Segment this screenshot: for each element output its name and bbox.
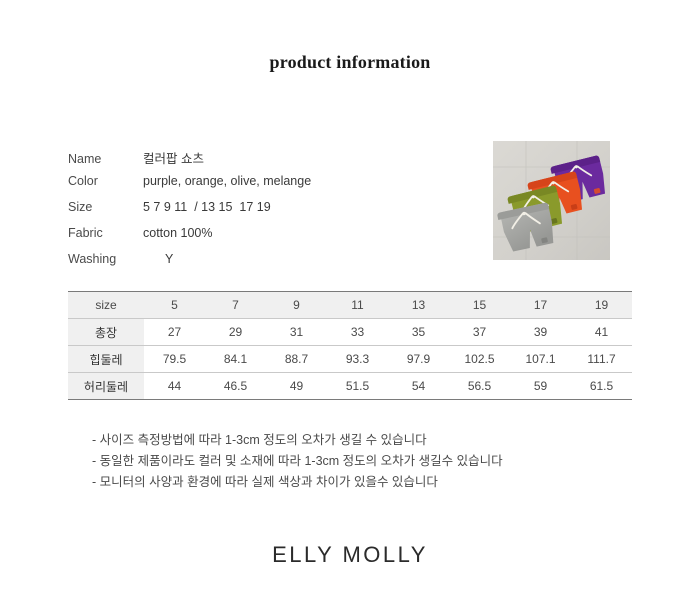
spec-label-color: Color: [68, 174, 143, 188]
size-table-cell: 31: [266, 319, 327, 346]
size-table-cell: 35: [388, 319, 449, 346]
notice-item: - 동일한 제품이라도 컬러 및 소재에 따라 1-3cm 정도의 오차가 생길…: [92, 451, 612, 472]
size-table-header-cell: size: [68, 292, 144, 319]
spec-value-name: 컬러팝 쇼츠: [143, 148, 204, 167]
size-table-cell: 27: [144, 319, 205, 346]
size-table-body: 총장 27 29 31 33 35 37 39 41 힙둘레 79.5 84.1…: [68, 319, 632, 400]
size-table-cell: 33: [327, 319, 388, 346]
size-table-cell: 51.5: [327, 373, 388, 400]
size-table-header-cell: 11: [327, 292, 388, 319]
size-table-cell: 29: [205, 319, 266, 346]
size-table-cell: 93.3: [327, 346, 388, 373]
table-row: 힙둘레 79.5 84.1 88.7 93.3 97.9 102.5 107.1…: [68, 346, 632, 373]
spec-value-size: 5 7 9 11 / 13 15 17 19: [143, 200, 271, 214]
size-table-cell: 44: [144, 373, 205, 400]
size-table-cell: 102.5: [449, 346, 510, 373]
size-table-cell: 79.5: [144, 346, 205, 373]
spec-row-name: Name 컬러팝 쇼츠: [68, 148, 468, 174]
size-table-cell: 59: [510, 373, 571, 400]
size-table-cell: 97.9: [388, 346, 449, 373]
spec-label-name: Name: [68, 152, 143, 166]
size-table-cell: 41: [571, 319, 632, 346]
size-table-header-cell: 19: [571, 292, 632, 319]
size-table-header-row: size 5 7 9 11 13 15 17 19: [68, 292, 632, 319]
size-table-header-cell: 15: [449, 292, 510, 319]
spec-value-color: purple, orange, olive, melange: [143, 174, 311, 188]
table-row: 총장 27 29 31 33 35 37 39 41: [68, 319, 632, 346]
table-row: 허리둘레 44 46.5 49 51.5 54 56.5 59 61.5: [68, 373, 632, 400]
spec-label-washing: Washing: [68, 252, 143, 266]
size-table-cell: 39: [510, 319, 571, 346]
size-table-container: size 5 7 9 11 13 15 17 19 총장 27 29 31 33…: [68, 291, 632, 400]
product-photo: [493, 141, 610, 260]
page-title: product information: [0, 52, 700, 73]
size-table-header-cell: 9: [266, 292, 327, 319]
notice-list: - 사이즈 측정방법에 따라 1-3cm 정도의 오차가 생길 수 있습니다 -…: [92, 430, 612, 493]
size-table-head: size 5 7 9 11 13 15 17 19: [68, 292, 632, 319]
size-table-cell: 88.7: [266, 346, 327, 373]
size-table-cell: 54: [388, 373, 449, 400]
size-table-row-label: 총장: [68, 319, 144, 346]
size-table-header-cell: 5: [144, 292, 205, 319]
size-table-cell: 111.7: [571, 346, 632, 373]
spec-row-size: Size 5 7 9 11 / 13 15 17 19: [68, 200, 468, 226]
product-spec-list: Name 컬러팝 쇼츠 Color purple, orange, olive,…: [68, 148, 468, 278]
size-table-header-cell: 13: [388, 292, 449, 319]
size-table-cell: 49: [266, 373, 327, 400]
size-table-row-label: 힙둘레: [68, 346, 144, 373]
spec-label-fabric: Fabric: [68, 226, 143, 240]
spec-label-size: Size: [68, 200, 143, 214]
size-table-row-label: 허리둘레: [68, 373, 144, 400]
size-table-cell: 61.5: [571, 373, 632, 400]
size-table-cell: 84.1: [205, 346, 266, 373]
size-table-cell: 56.5: [449, 373, 510, 400]
notice-item: - 사이즈 측정방법에 따라 1-3cm 정도의 오차가 생길 수 있습니다: [92, 430, 612, 451]
size-table-cell: 107.1: [510, 346, 571, 373]
notice-item: - 모니터의 사양과 환경에 따라 실제 색상과 차이가 있을수 있습니다: [92, 472, 612, 493]
size-table: size 5 7 9 11 13 15 17 19 총장 27 29 31 33…: [68, 291, 632, 400]
size-table-cell: 37: [449, 319, 510, 346]
product-photo-image: [493, 141, 610, 260]
size-table-header-cell: 17: [510, 292, 571, 319]
spec-value-washing: Y: [143, 252, 173, 266]
spec-value-fabric: cotton 100%: [143, 226, 213, 240]
size-table-cell: 46.5: [205, 373, 266, 400]
size-table-header-cell: 7: [205, 292, 266, 319]
brand-logo-text: ELLY MOLLY: [0, 542, 700, 568]
spec-row-washing: Washing Y: [68, 252, 468, 278]
spec-row-fabric: Fabric cotton 100%: [68, 226, 468, 252]
spec-row-color: Color purple, orange, olive, melange: [68, 174, 468, 200]
